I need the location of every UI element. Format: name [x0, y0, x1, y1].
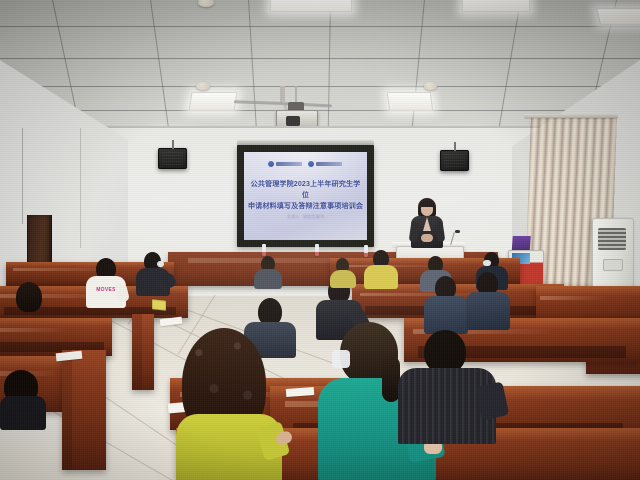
presenter: [408, 198, 446, 248]
audience-member: [0, 370, 46, 426]
student-desk: [132, 314, 154, 390]
audience-member: [364, 250, 398, 288]
ac-vent-icon: [598, 228, 626, 250]
desk-number-label: [152, 299, 166, 310]
audience-member: [398, 330, 496, 438]
student-desk: [62, 350, 106, 470]
face-mask: [332, 350, 350, 368]
slide-subtitle: 主讲人 · 研究生秘书: [256, 214, 354, 220]
wall-speaker-right: [440, 150, 469, 171]
wall-conduit: [22, 128, 23, 224]
water-bottle: [262, 244, 266, 256]
wall-speaker-left: [158, 148, 187, 169]
ceiling-light-panel: [596, 8, 640, 25]
ceiling-projector: [276, 86, 316, 130]
audience-member: [6, 282, 54, 360]
audience-member: [466, 272, 510, 328]
slide-title-line-1: 公共管理学院2023上半年研究生学位: [248, 179, 364, 201]
university-logo-icon: [268, 161, 302, 167]
projector-lens-icon: [286, 116, 300, 126]
ceiling-light-panel: [387, 92, 433, 111]
audience-member: [136, 252, 170, 296]
water-bottle: [315, 244, 319, 256]
smoke-detector-icon: [424, 82, 437, 90]
audience-member: [254, 256, 282, 288]
ac-display: [603, 259, 623, 271]
audience-member: [330, 258, 356, 286]
wall-conduit: [80, 128, 81, 248]
projected-slide: 公共管理学院2023上半年研究生学位 申请材料填写及答辩注意事项培训会 主讲人 …: [244, 152, 367, 240]
smoke-detector-icon: [196, 82, 210, 90]
slide-logos: [261, 159, 350, 169]
microphone-icon: [455, 230, 460, 233]
slide-title: 公共管理学院2023上半年研究生学位 申请材料填写及答辩注意事项培训会: [248, 179, 364, 212]
smoke-detector-icon: [198, 0, 214, 7]
ceiling-light-panel: [462, 0, 530, 12]
ceiling-light-panel: [270, 0, 352, 12]
slide-title-line-2: 申请材料填写及答辩注意事项培训会: [248, 201, 364, 212]
classroom-photo: 公共管理学院2023上半年研究生学位 申请材料填写及答辩注意事项培训会 主讲人 …: [0, 0, 640, 480]
school-logo-icon: [308, 161, 342, 167]
audience-member: MOVES: [86, 258, 126, 306]
student-yellow-green-top: [176, 328, 282, 480]
